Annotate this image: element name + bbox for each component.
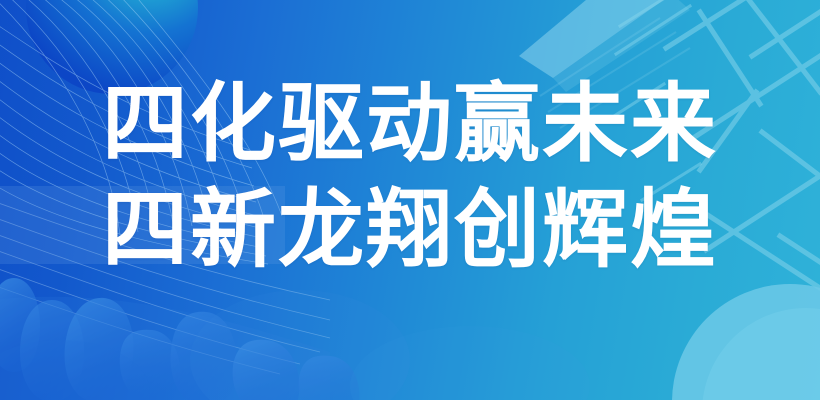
soft-blob-c: [0, 340, 150, 400]
soft-blob-layer: [0, 0, 820, 400]
promotional-banner: 四化驱动赢未来 四新龙翔创辉煌: [0, 0, 820, 400]
